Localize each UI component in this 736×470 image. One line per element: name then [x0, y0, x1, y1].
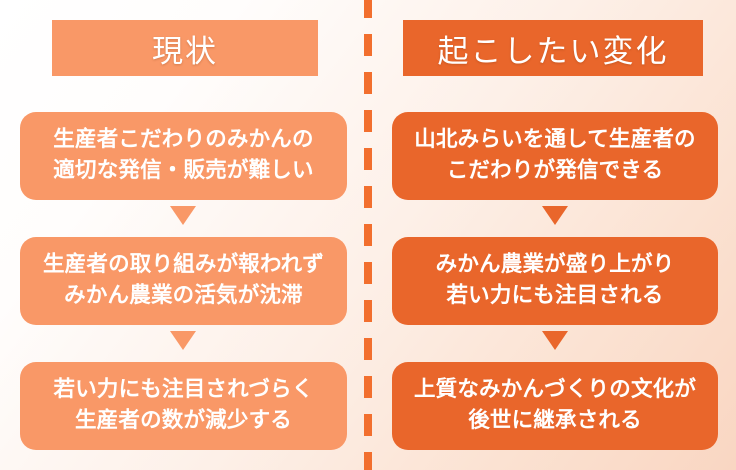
card-change-2-line-1: みかん農業が盛り上がり	[436, 250, 675, 281]
card-current-3-line-1: 若い力にも注目されづらく	[54, 375, 314, 406]
card-current-1-line-2: 適切な発信・販売が難しい	[53, 156, 313, 187]
card-current-1: 生産者こだわりのみかんの 適切な発信・販売が難しい	[20, 112, 347, 200]
down-arrow-icon-current-2	[170, 331, 196, 350]
down-arrow-icon-change-2	[542, 331, 568, 350]
card-current-3: 若い力にも注目されづらく 生産者の数が減少する	[20, 362, 347, 450]
card-change-3-line-2: 後世に継承される	[468, 406, 642, 437]
card-change-3: 上質なみかんづくりの文化が 後世に継承される	[392, 362, 718, 450]
card-change-2-line-2: 若い力にも注目される	[446, 281, 663, 312]
card-change-1-line-1: 山北みらいを通して生産者の	[414, 125, 695, 156]
card-change-2: みかん農業が盛り上がり 若い力にも注目される	[392, 237, 718, 325]
column-header-desired-change: 起こしたい変化	[403, 20, 703, 76]
column-header-current-state: 現状	[52, 20, 318, 76]
card-current-2-line-2: みかん農業の活気が沈滞	[64, 281, 303, 312]
card-change-1: 山北みらいを通して生産者の こだわりが発信できる	[392, 112, 718, 200]
down-arrow-icon-current-1	[170, 206, 196, 225]
card-change-3-line-1: 上質なみかんづくりの文化が	[414, 375, 696, 406]
card-current-2-line-1: 生産者の取り組みが報われず	[43, 250, 324, 281]
down-arrow-icon-change-1	[542, 206, 568, 225]
card-current-1-line-1: 生産者こだわりのみかんの	[53, 125, 313, 156]
column-current-state: 現状 生産者こだわりのみかんの 適切な発信・販売が難しい 生産者の取り組みが報わ…	[0, 0, 368, 470]
card-current-2: 生産者の取り組みが報われず みかん農業の活気が沈滞	[20, 237, 347, 325]
card-change-1-line-2: こだわりが発信できる	[447, 156, 664, 187]
infographic-canvas: 現状 生産者こだわりのみかんの 適切な発信・販売が難しい 生産者の取り組みが報わ…	[0, 0, 736, 470]
column-desired-change: 起こしたい変化 山北みらいを通して生産者の こだわりが発信できる みかん農業が盛…	[368, 0, 736, 470]
card-current-3-line-2: 生産者の数が減少する	[75, 406, 292, 437]
